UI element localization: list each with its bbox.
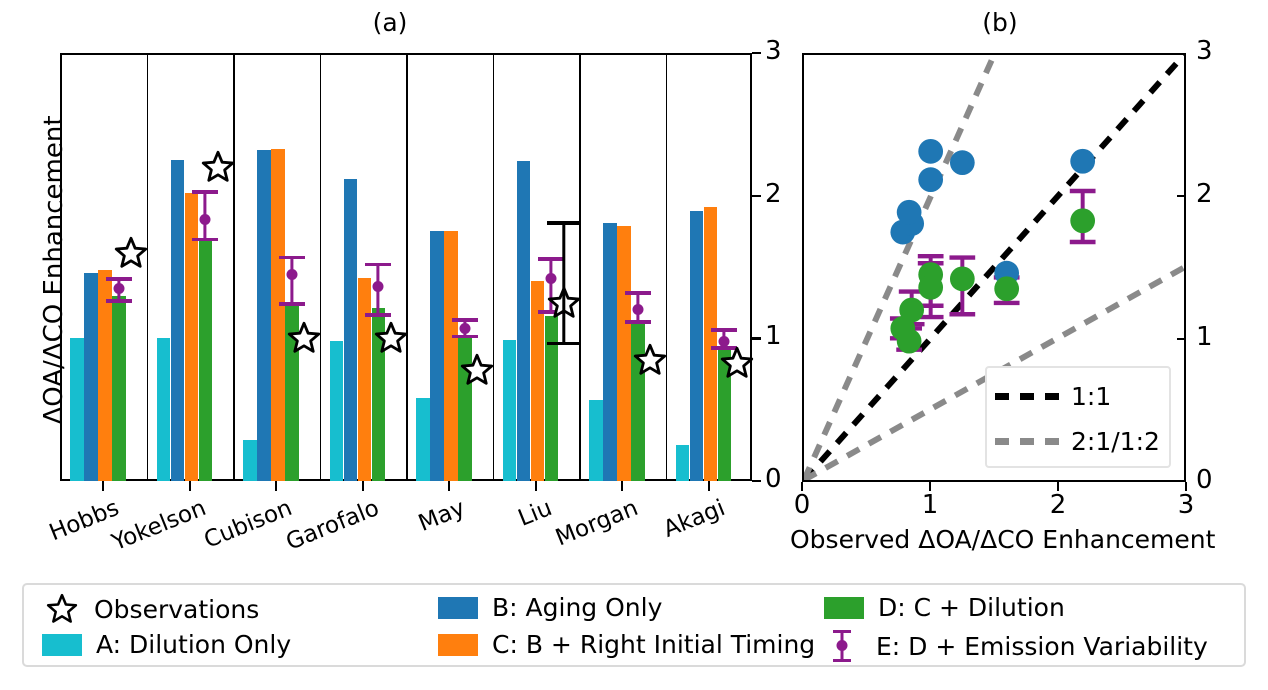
scatter-point-d-7 <box>897 329 922 354</box>
panel-a-group-separator <box>406 53 408 481</box>
errorbar-cap-upper <box>106 277 132 281</box>
panel-a-ytick <box>752 195 761 197</box>
panel-a-group-separator <box>493 53 495 481</box>
observation-star-cubison <box>287 321 321 355</box>
panel-a-ytick-label: 1 <box>765 321 782 351</box>
observation-star-yokelson <box>201 150 235 184</box>
errorbar-cap-upper <box>192 190 218 194</box>
errorbar-cap-upper <box>365 263 391 267</box>
legend-label-observations: Observations <box>94 595 259 624</box>
bar-yokelson-b <box>171 160 185 481</box>
bar-morgan-a <box>589 400 603 481</box>
bar-garofalo-c <box>358 278 372 481</box>
panel-a-xtick <box>189 481 191 491</box>
scatter-point-d-5 <box>950 266 975 291</box>
color-swatch-c <box>438 634 478 656</box>
scatter-point-d-0 <box>994 276 1019 301</box>
bar-liu-b <box>517 161 531 481</box>
bar-cubison-a <box>243 440 257 481</box>
panel-b-xtick-label: 3 <box>1156 490 1216 520</box>
legend-b-label-1: 2:1/1:2 <box>1071 427 1160 456</box>
errorbar-point <box>546 273 557 284</box>
bar-cubison-b <box>257 150 271 481</box>
panel-a-xtick <box>535 481 537 491</box>
panel-b-xtick-label: 2 <box>1028 490 1088 520</box>
scatter-point-b-3 <box>918 167 943 192</box>
star-icon <box>46 593 78 625</box>
panel-b-ytick-label: 1 <box>1196 322 1213 352</box>
observation-star-may <box>460 353 494 387</box>
legend-label-b: B: Aging Only <box>492 593 662 622</box>
observation-star-morgan <box>633 343 667 377</box>
bar-yokelson-c <box>185 193 199 481</box>
bar-hobbs-d <box>112 296 126 481</box>
color-swatch-a <box>42 634 82 656</box>
panel-a-title: (a) <box>330 8 450 37</box>
bar-liu-a <box>503 340 517 481</box>
errorbar-cap-upper <box>452 318 478 322</box>
errorbar-point <box>632 304 643 315</box>
panel-a-xtick <box>102 481 104 491</box>
bar-yokelson-a <box>157 338 171 481</box>
panel-b-ytick-label: 2 <box>1196 179 1213 209</box>
scatter-point-b-5 <box>950 150 975 175</box>
errorbar-icon <box>826 629 858 663</box>
legend-label-a: A: Dilution Only <box>96 630 291 659</box>
legend-label-c: C: B + Right Initial Timing <box>492 630 815 659</box>
errorbar-cap-upper <box>625 291 651 295</box>
panel-a-group-separator <box>579 53 581 481</box>
panel-b-legend: 1:1 2:1/1:2 <box>985 366 1171 468</box>
bar-garofalo-b <box>344 179 358 481</box>
panel-a-ytick <box>752 480 761 482</box>
line-2to1-icon <box>995 438 1059 445</box>
scatter-point-b-7 <box>897 200 922 225</box>
errorbar-cap-upper <box>279 256 305 260</box>
errorbar-cap-lower <box>365 313 391 317</box>
panel-a-xtick <box>708 481 710 491</box>
panel-b-ytick <box>1177 195 1186 197</box>
panel-b-xtick-label: 0 <box>772 490 832 520</box>
panel-b-ytick-label: 3 <box>1196 36 1213 66</box>
obs-errorbar-cap-upper <box>547 221 581 225</box>
panel-a-ytick <box>752 337 761 339</box>
legend-item-observations: Observations <box>46 593 259 625</box>
errorbar-cap-upper <box>538 257 564 261</box>
bar-akagi-a <box>676 445 690 481</box>
errorbar-cap-lower <box>279 302 305 306</box>
panel-a-group-separator <box>320 53 322 481</box>
panel-b-xlabel: Observed ΔOA/ΔCO Enhancement <box>790 525 1200 554</box>
figure-legend: Observations A: Dilution Only B: Aging O… <box>22 583 1246 667</box>
line-1to1-icon <box>995 393 1059 400</box>
bar-liu-d <box>545 316 559 481</box>
errorbar-cap-lower <box>192 238 218 242</box>
errorbar-cap-lower <box>106 299 132 303</box>
color-swatch-d <box>824 597 864 619</box>
errorbar-cap-upper <box>711 328 737 332</box>
bar-may-a <box>416 398 430 481</box>
panel-a-group-separator <box>233 53 235 481</box>
panel-a-xtick <box>362 481 364 491</box>
obs-errorbar-stem <box>562 221 565 345</box>
errorbar-point <box>113 283 124 294</box>
errorbar-stem <box>290 256 293 306</box>
bar-hobbs-b <box>84 273 98 481</box>
scatter-point-d-1 <box>1070 208 1095 233</box>
legend-item-e: E: D + Emission Variability <box>826 629 1208 663</box>
observation-star-akagi <box>720 346 754 380</box>
errorbar-point <box>286 269 297 280</box>
panel-a-ytick-label: 2 <box>765 179 782 209</box>
obs-errorbar-cap-lower <box>547 342 581 346</box>
panel-b-ytick <box>1177 338 1186 340</box>
panel-a-ytick <box>752 52 761 54</box>
bar-morgan-c <box>617 226 631 481</box>
legend-label-e: E: D + Emission Variability <box>876 632 1208 661</box>
bar-may-c <box>444 231 458 481</box>
panel-a-group-separator <box>666 53 668 481</box>
legend-b-row-2-1: 2:1/1:2 <box>995 419 1161 464</box>
legend-item-d: D: C + Dilution <box>824 593 1065 622</box>
legend-item-b: B: Aging Only <box>438 593 662 622</box>
errorbar-point <box>459 323 470 334</box>
bar-akagi-b <box>690 211 704 481</box>
legend-label-d: D: C + Dilution <box>878 593 1065 622</box>
bar-garofalo-a <box>330 341 344 481</box>
errorbar-point <box>373 281 384 292</box>
panel-a-xtick <box>621 481 623 491</box>
legend-b-row-1-1: 1:1 <box>995 374 1161 419</box>
scatter-point-b-1 <box>1070 149 1095 174</box>
panel-a-xtick <box>448 481 450 491</box>
scatter-point-d-6 <box>899 298 924 323</box>
bar-akagi-c <box>704 207 718 481</box>
bar-morgan-b <box>603 223 617 481</box>
errorbar-cap-lower <box>452 335 478 339</box>
panel-b-title: (b) <box>940 8 1060 37</box>
bar-cubison-c <box>271 149 285 481</box>
panel-a-ytick-label: 3 <box>765 36 782 66</box>
errorbar-point <box>200 214 211 225</box>
bar-hobbs-a <box>70 338 84 481</box>
figure-root: (a) (b) ΔOA/ΔCO Enhancement 0123 HobbsYo… <box>0 0 1268 690</box>
bar-may-b <box>430 231 444 481</box>
legend-b-label-0: 1:1 <box>1071 382 1111 411</box>
panel-a-xtick <box>275 481 277 491</box>
panel-b-xtick-label: 1 <box>900 490 960 520</box>
legend-item-c: C: B + Right Initial Timing <box>438 630 815 659</box>
bar-yokelson-d <box>199 241 213 481</box>
observation-star-hobbs <box>114 236 148 270</box>
scatter-point-b-2 <box>918 139 943 164</box>
scatter-point-d-3 <box>918 275 943 300</box>
legend-item-a: A: Dilution Only <box>42 630 291 659</box>
observation-star-garofalo <box>374 321 408 355</box>
errorbar-cap-lower <box>625 320 651 324</box>
color-swatch-b <box>438 597 478 619</box>
